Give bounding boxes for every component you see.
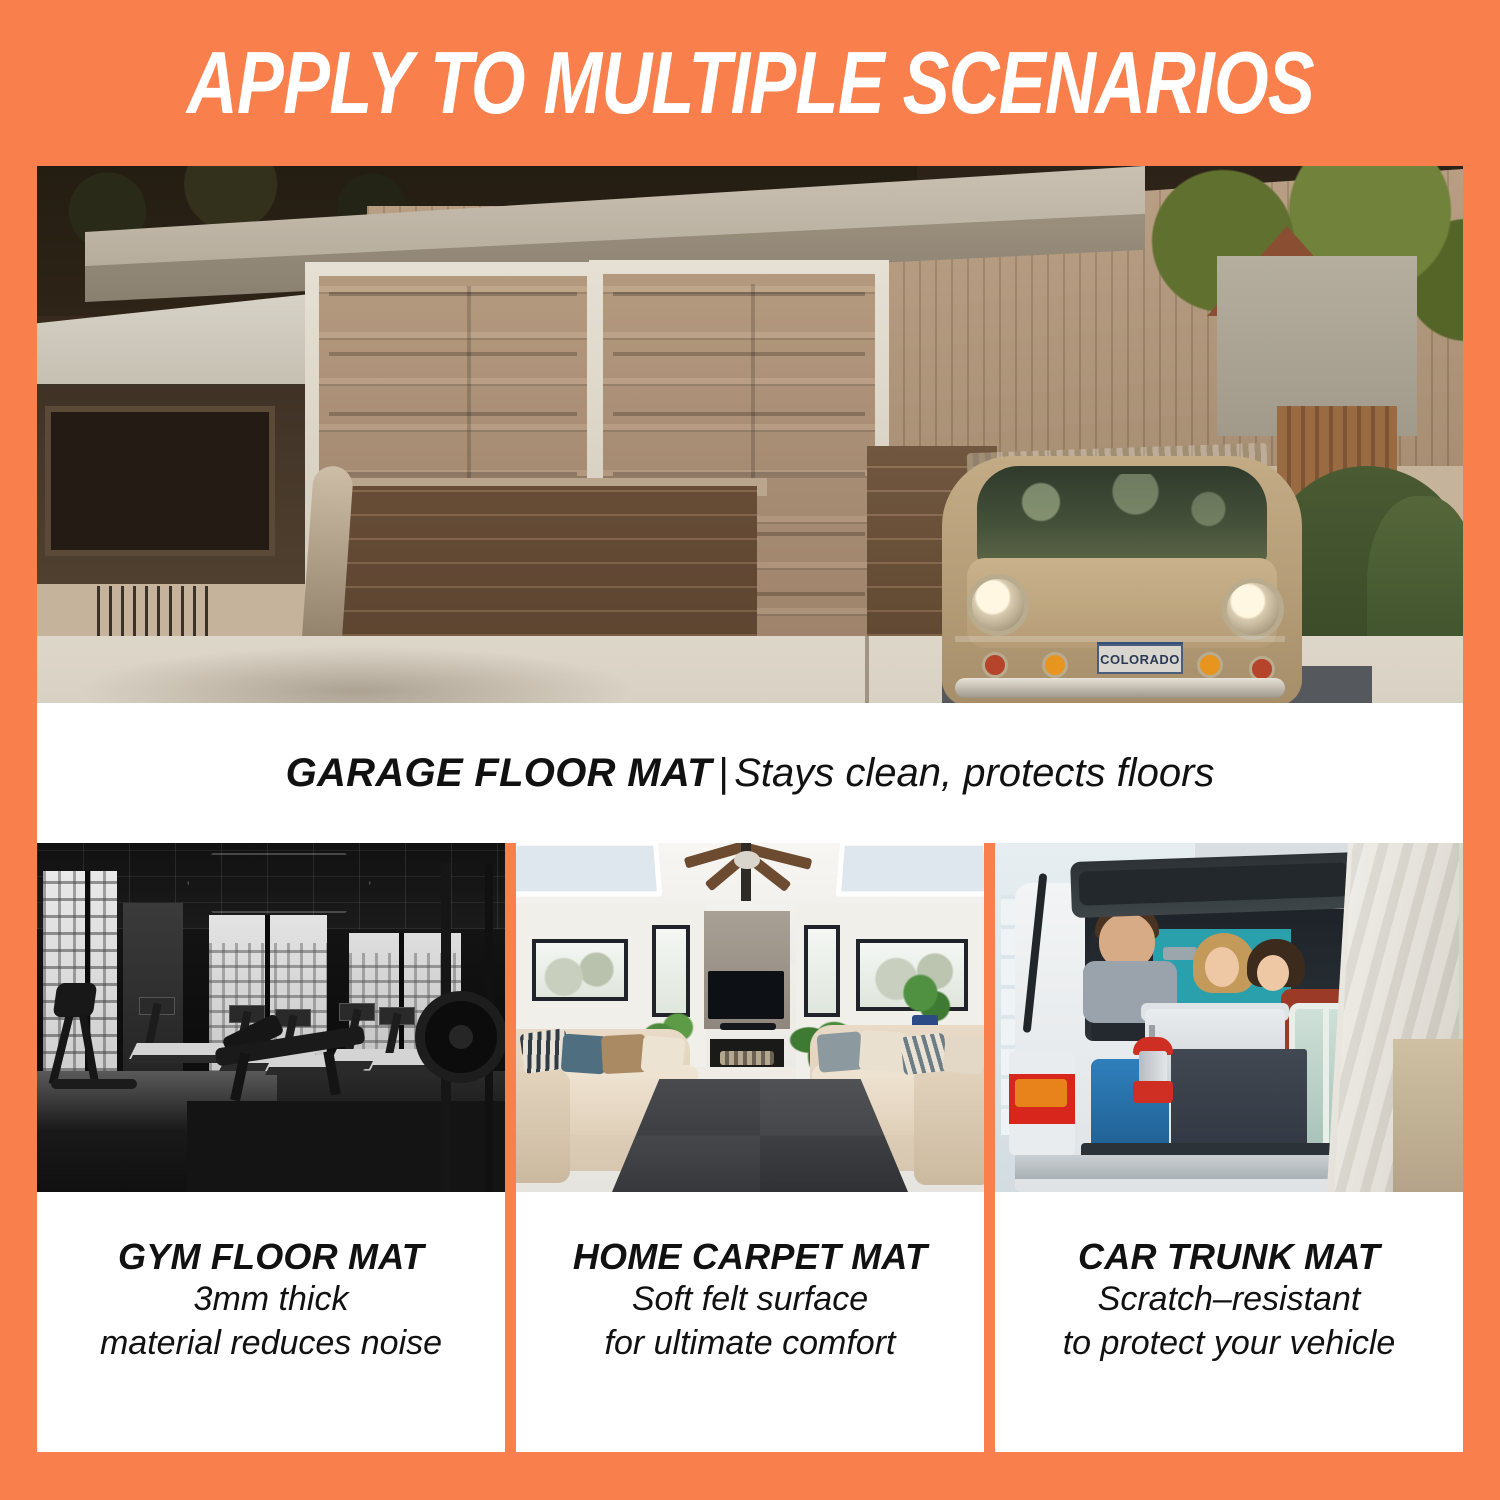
- suitcase-divider: [1323, 1009, 1329, 1145]
- neighbor-window: [45, 406, 275, 556]
- elliptical-base: [51, 1079, 137, 1089]
- gym-caption: GYM FLOOR MAT 3mm thick material reduces…: [37, 1192, 505, 1452]
- wall-mounted-tv: [708, 971, 784, 1019]
- home-carpet-mat: [612, 1079, 908, 1192]
- sofa-left-arm: [516, 1071, 570, 1183]
- bench-leg: [323, 1050, 340, 1095]
- car-turn-signal: [1197, 652, 1223, 678]
- home-caption: HOME CARPET MAT Soft felt surface for ul…: [516, 1192, 984, 1452]
- scenario-card-row: GYM FLOOR MAT 3mm thick material reduces…: [37, 843, 1463, 1452]
- car-headlight-right: [1222, 578, 1284, 640]
- driveway-seam: [865, 636, 869, 703]
- hero-caption-line: GARAGE FLOOR MAT|Stays clean, protects f…: [286, 753, 1215, 793]
- gym-photo: [37, 843, 505, 1192]
- header-banner: APPLY TO MULTIPLE SCENARIOS: [0, 0, 1500, 166]
- garage-scene: COLORADO: [37, 166, 1463, 703]
- window-right-center: [804, 925, 840, 1017]
- weight-plate-hub: [449, 1025, 473, 1049]
- card-subtitle-line1: 3mm thick: [194, 1278, 349, 1322]
- throw-pillow: [859, 1030, 906, 1073]
- throw-pillow: [900, 1033, 948, 1075]
- hero-caption-separator: |: [712, 751, 734, 795]
- hero-caption-bar: GARAGE FLOOR MAT|Stays clean, protects f…: [37, 703, 1463, 843]
- ceiling-fan-light: [734, 851, 760, 869]
- rear-bumper: [1015, 1155, 1365, 1179]
- woman-face: [1205, 947, 1239, 987]
- card-subtitle-line1: Scratch–resistant: [1098, 1278, 1361, 1322]
- sofa-right-arm: [914, 1067, 984, 1185]
- throw-pillow: [816, 1031, 863, 1073]
- car-marker-light: [982, 652, 1008, 678]
- scenario-card-trunk: CAR TRUNK MAT Scratch–resistant to prote…: [995, 843, 1463, 1452]
- page-title: APPLY TO MULTIPLE SCENARIOS: [186, 39, 1313, 127]
- infographic-page: APPLY TO MULTIPLE SCENARIOS: [0, 0, 1500, 1500]
- treadmill-base: [129, 1055, 229, 1063]
- rearview-mirror: [1163, 947, 1197, 960]
- second-child-face: [1257, 955, 1289, 991]
- card-subtitle-line1: Soft felt surface: [632, 1278, 868, 1322]
- fireplace-logs: [720, 1051, 774, 1065]
- license-plate: COLORADO: [1097, 644, 1183, 674]
- living-room-photo: [516, 843, 984, 1192]
- card-subtitle-line2: material reduces noise: [100, 1322, 442, 1366]
- lantern-base: [1133, 1081, 1173, 1103]
- card-title: HOME CARPET MAT: [573, 1236, 927, 1278]
- fireplace-hearth: [696, 1067, 796, 1081]
- throw-pillow: [942, 1035, 984, 1075]
- scenario-card-home: HOME CARPET MAT Soft felt surface for ul…: [516, 843, 984, 1452]
- soundbar: [720, 1023, 776, 1030]
- throw-pillow: [601, 1034, 647, 1074]
- elliptical-console: [53, 983, 98, 1017]
- scenario-card-gym: GYM FLOOR MAT 3mm thick material reduces…: [37, 843, 505, 1452]
- skylight-right: [836, 843, 984, 896]
- license-plate-text: COLORADO: [1100, 652, 1180, 667]
- hero-caption-description: Stays clean, protects floors: [734, 751, 1214, 795]
- garage-photo: COLORADO: [37, 166, 1463, 703]
- driveway-shadow: [77, 646, 637, 703]
- car-headlight-left: [967, 574, 1029, 636]
- gym-floor-mat: [187, 1101, 505, 1192]
- card-subtitle-line2: to protect your vehicle: [1063, 1322, 1396, 1366]
- card-subtitle-line2: for ultimate comfort: [605, 1322, 896, 1366]
- trunk-caption: CAR TRUNK MAT Scratch–resistant to prote…: [995, 1192, 1463, 1452]
- car-trunk-scene: [995, 843, 1463, 1192]
- weight-bench: [215, 1031, 385, 1111]
- outside-foliage: [538, 947, 624, 997]
- skylight-left: [516, 843, 662, 896]
- gym-scene: [37, 843, 505, 1192]
- ceiling-hex-light: [187, 853, 371, 913]
- windshield-reflection: [987, 474, 1257, 544]
- card-title: CAR TRUNK MAT: [1078, 1236, 1380, 1278]
- card-title: GYM FLOOR MAT: [118, 1236, 424, 1278]
- elliptical-machine: [55, 983, 131, 1083]
- car-bumper: [955, 678, 1285, 698]
- elliptical-pedal: [79, 1013, 99, 1085]
- taillight-amber: [1015, 1079, 1067, 1107]
- hero-card: COLORADO GARAGE FLOOR MAT|Stays clean, p…: [37, 166, 1463, 843]
- car-turn-signal: [1042, 652, 1068, 678]
- hero-caption-title: GARAGE FLOOR MAT: [286, 751, 712, 795]
- car-trunk-photo: [995, 843, 1463, 1192]
- throw-pillow: [641, 1035, 686, 1075]
- person-khaki-pants: [1393, 1039, 1463, 1192]
- living-room-scene: [516, 843, 984, 1192]
